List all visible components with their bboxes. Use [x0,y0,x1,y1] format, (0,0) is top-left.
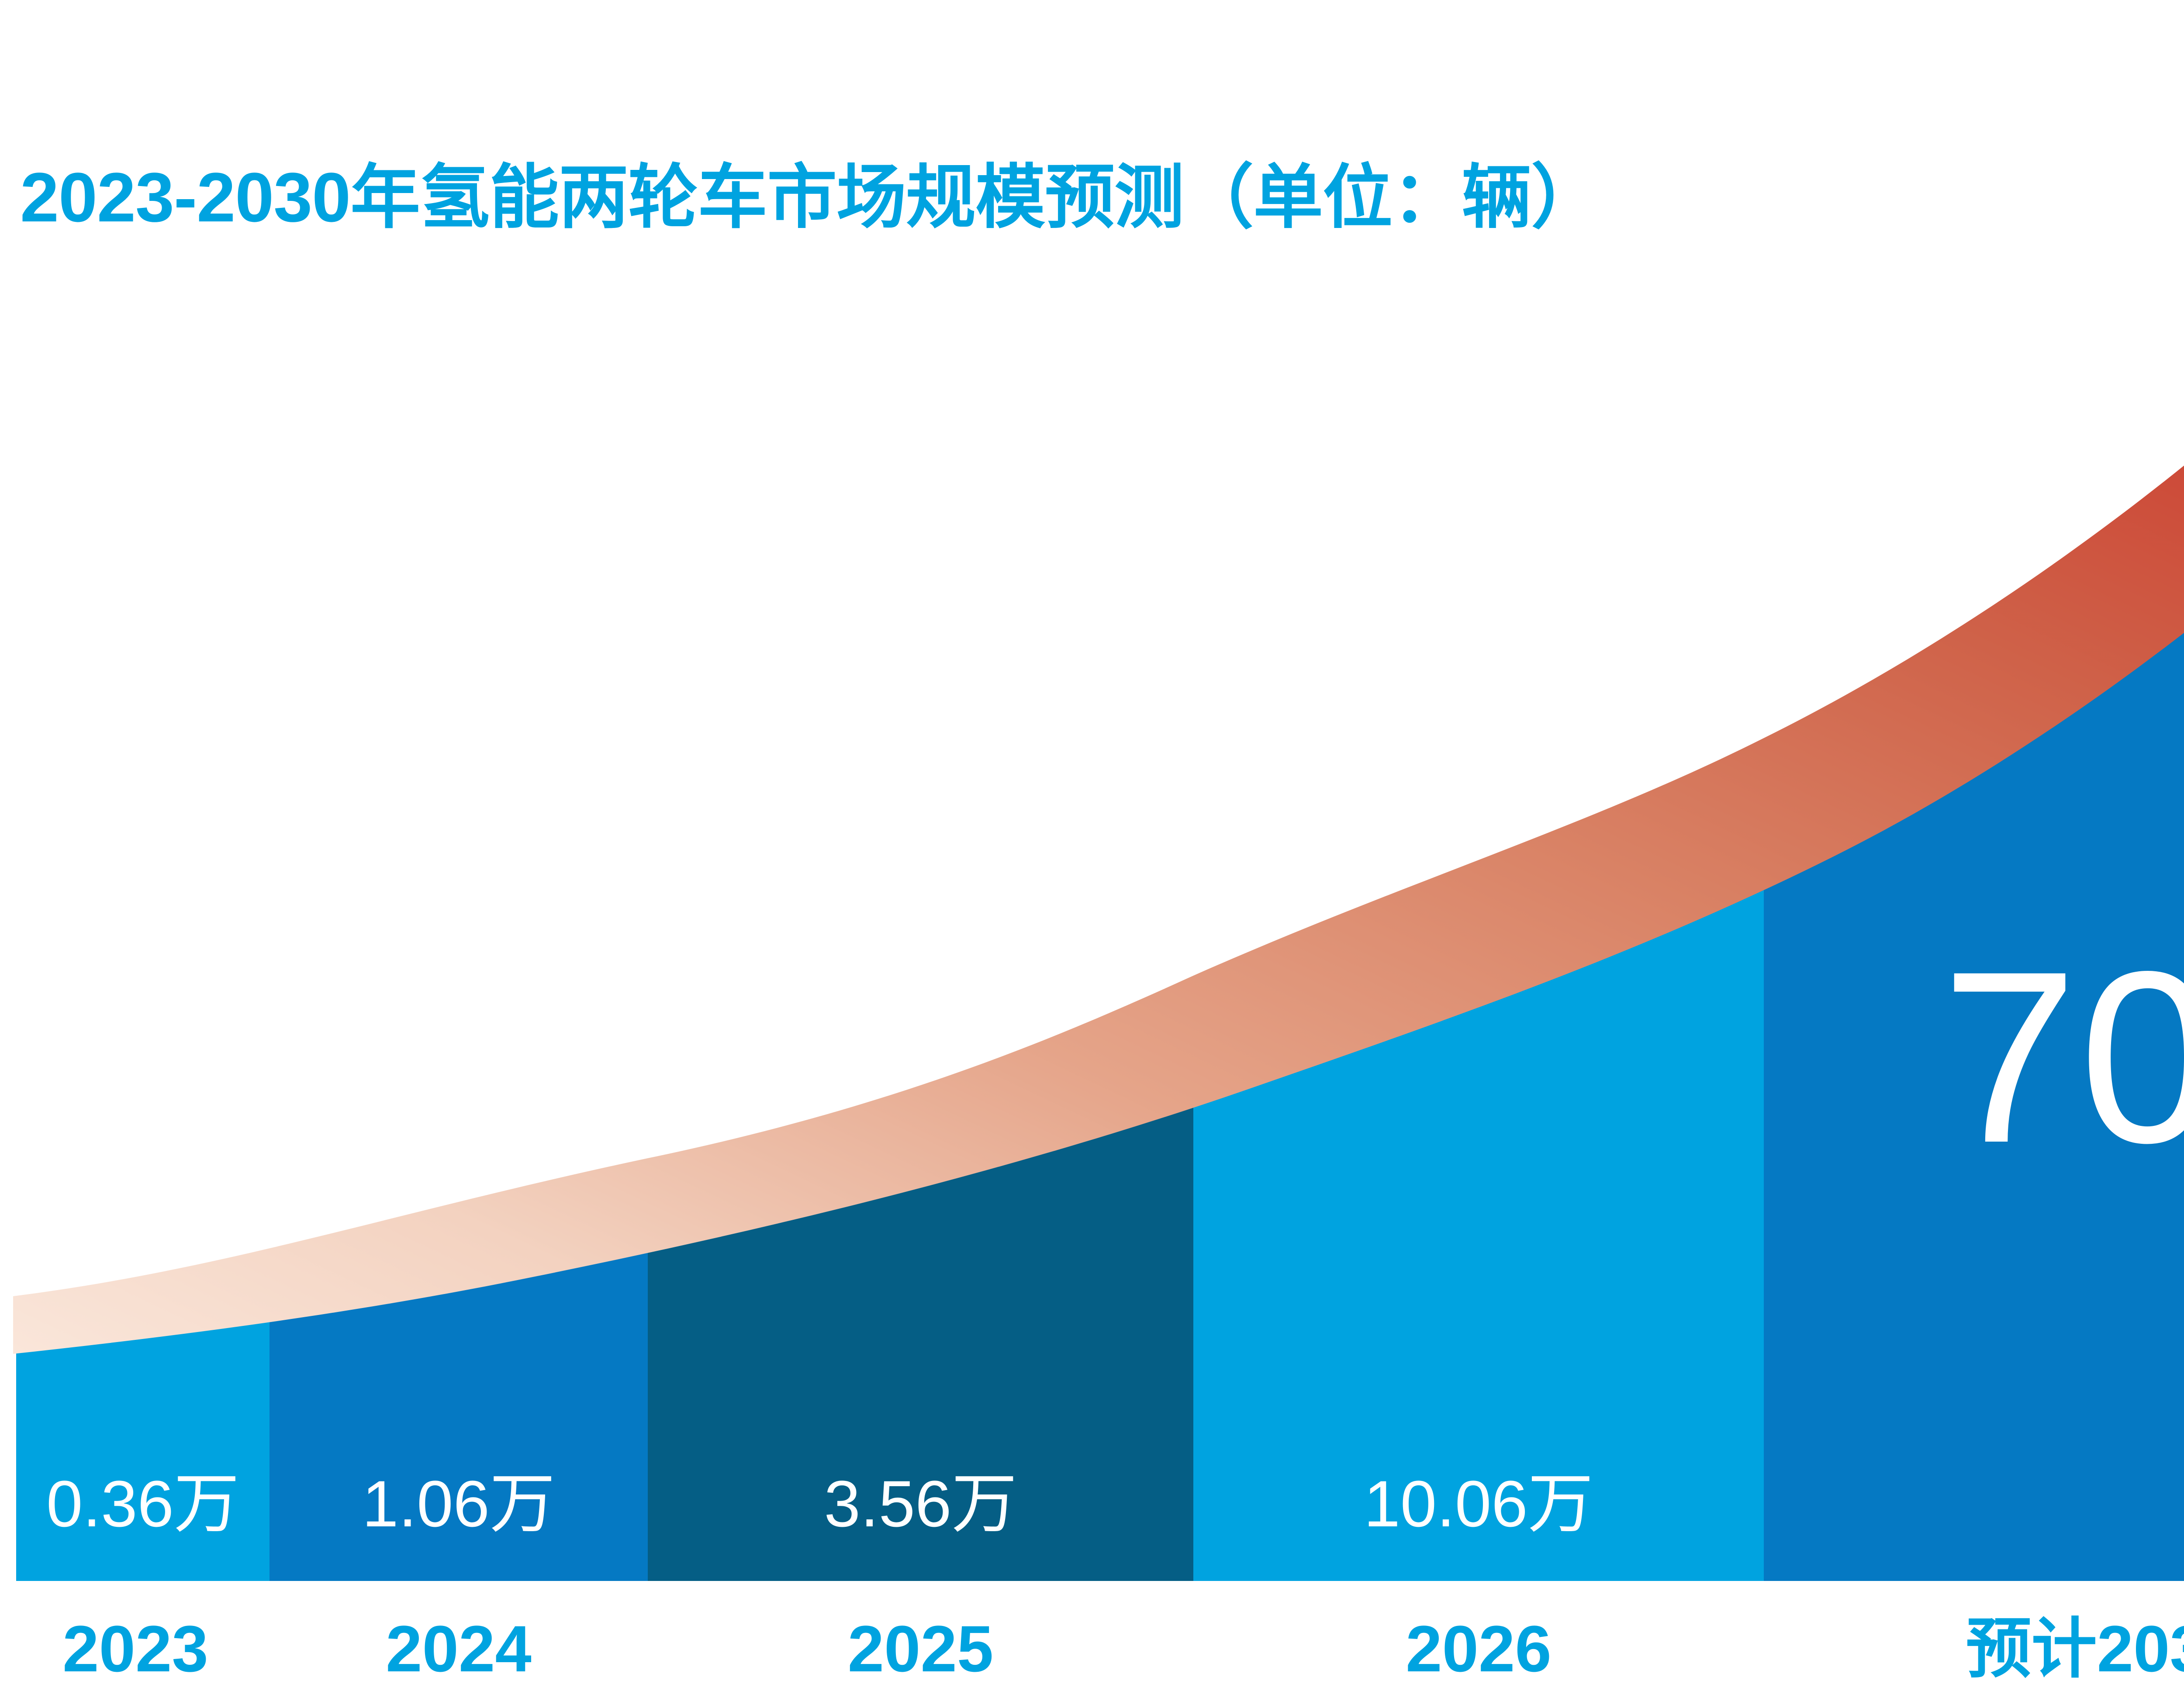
bar-value-2023: 0.36万 [16,1471,270,1536]
category-label-2030: 预计2030年增长 [1764,1616,2184,1681]
page-title: 2023-2030年氢能两轮车市场规模预测（单位：辆） [20,162,1600,232]
bar-value-2026: 10.06万 [1193,1471,1764,1536]
growth-bar-chart [0,0,2184,1698]
bar-2025 [648,0,1193,1581]
category-label-2024: 2024 [270,1616,648,1681]
category-label-2026: 2026 [1193,1616,1764,1681]
category-label-2025: 2025 [648,1616,1193,1681]
bar-value-2025: 3.56万 [648,1471,1193,1536]
category-label-2023: 2023 [0,1616,297,1681]
infographic-root: 2023-2030年氢能两轮车市场规模预测（单位：辆） 0.36万 1.06万 … [0,0,2184,1698]
bar-2024 [270,0,648,1581]
bar-value-2024: 1.06万 [270,1471,648,1536]
bar-value-2030: 70万 [1764,935,2184,1179]
